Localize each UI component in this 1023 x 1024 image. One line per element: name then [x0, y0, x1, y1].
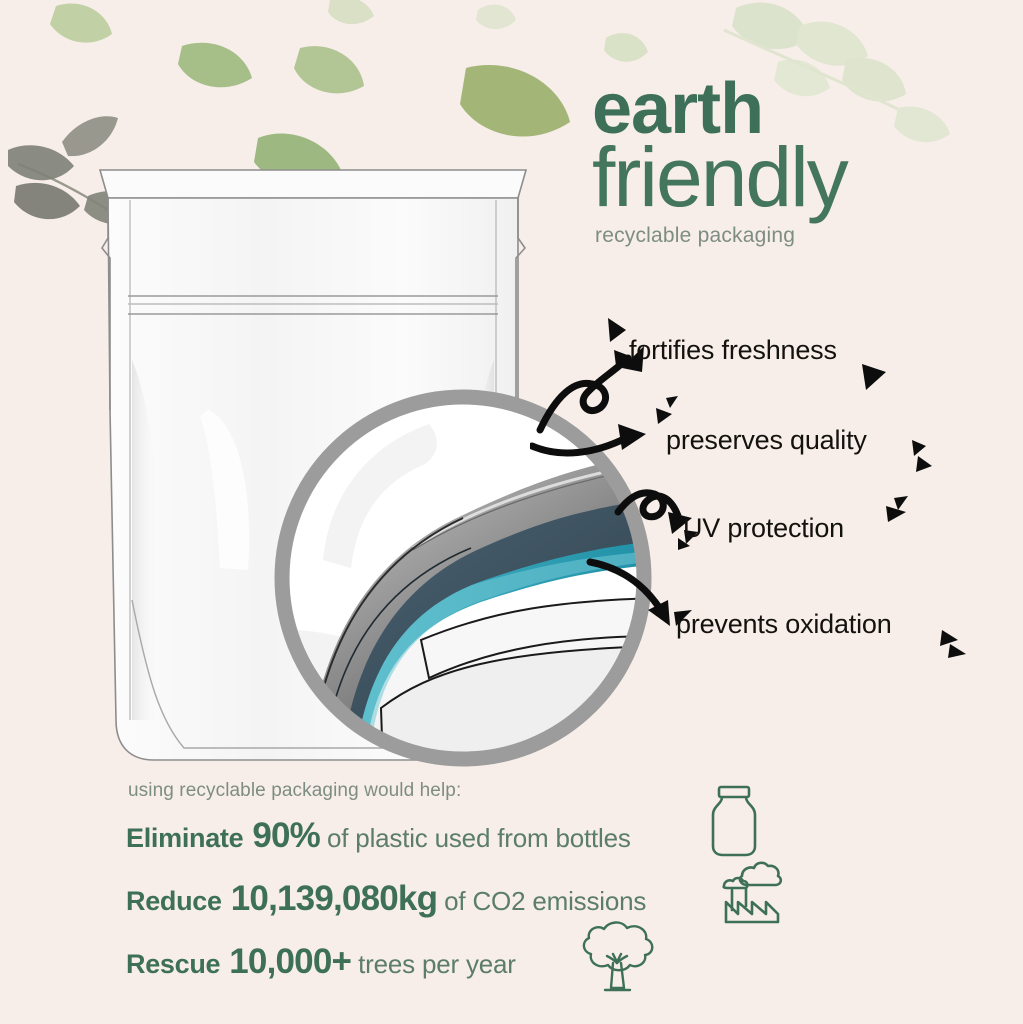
factory-icon — [712, 858, 786, 926]
curved-arrow-icon — [590, 562, 662, 612]
headline-line-2: friendly — [592, 138, 1012, 218]
stat-value: 10,000+ — [229, 942, 351, 982]
poster-canvas: earth friendly recyclable packaging fort… — [0, 0, 1023, 1024]
curved-arrow-icon — [532, 438, 626, 453]
stat-verb: Reduce — [126, 886, 222, 917]
stats-intro-text: using recyclable packaging would help: — [128, 780, 886, 802]
stat-description: trees per year — [358, 949, 516, 980]
feature-label-preserves-quality: preserves quality — [666, 425, 867, 456]
stat-value: 10,139,080kg — [231, 879, 437, 919]
stat-row: Eliminate 90% of plastic used from bottl… — [126, 816, 886, 856]
feature-label-prevents-oxidation: prevents oxidation — [676, 609, 892, 640]
feature-label-fortifies-freshness: fortifies freshness — [629, 335, 837, 366]
stat-row: Rescue 10,000+ trees per year — [126, 942, 886, 982]
stat-description: of plastic used from bottles — [327, 823, 631, 854]
stat-verb: Rescue — [126, 949, 220, 980]
page-title-block: earth friendly recyclable packaging — [592, 76, 1012, 248]
stat-description: of CO2 emissions — [444, 886, 646, 917]
headline-subtitle: recyclable packaging — [595, 224, 1012, 248]
feature-label-uv-protection: UV protection — [683, 513, 844, 544]
tree-icon — [569, 918, 665, 996]
bottle-icon — [705, 784, 763, 858]
stat-value: 90% — [252, 816, 320, 856]
stat-verb: Eliminate — [126, 823, 243, 854]
